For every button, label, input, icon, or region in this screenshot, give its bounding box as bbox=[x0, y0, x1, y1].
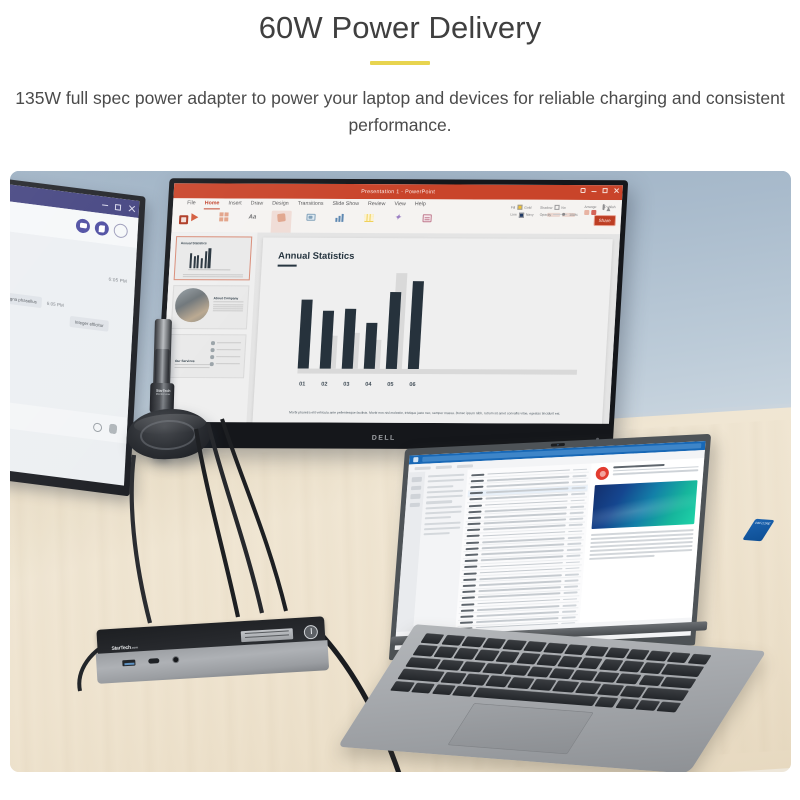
x-tick-label: 01 bbox=[297, 381, 308, 387]
maximize-icon[interactable] bbox=[115, 203, 121, 210]
slide-thumbnail-2[interactable]: About Company bbox=[171, 285, 250, 329]
chart-bar bbox=[408, 281, 424, 369]
window-controls bbox=[580, 188, 618, 193]
chat-bubble: Donec ac dui magna phasellus bbox=[10, 288, 42, 308]
bar-group-06 bbox=[408, 273, 425, 369]
annual-statistics-bar-chart[interactable]: 01 02 03 04 05 06 bbox=[296, 272, 589, 397]
mail-body-paragraph bbox=[589, 529, 694, 559]
avatar bbox=[595, 467, 609, 481]
shift-key[interactable] bbox=[398, 669, 445, 682]
mail-icon[interactable] bbox=[411, 477, 421, 482]
shadow-value: No bbox=[561, 205, 566, 209]
align-icon[interactable] bbox=[584, 210, 589, 215]
line-color-swatch[interactable] bbox=[519, 212, 524, 217]
powerpoint-workspace: Annual Statistics About Company bbox=[160, 232, 620, 424]
shadow-control[interactable]: Shadow No bbox=[540, 205, 579, 210]
chat-timestamp: 6:05 PM bbox=[10, 259, 127, 284]
secondary-monitor: 6:05 PM Donec ac dui magna phasellus 6:0… bbox=[10, 174, 146, 497]
x-tick-label: 03 bbox=[341, 382, 352, 388]
primary-monitor: Presentation 1 - PowerPoint Share File H… bbox=[154, 178, 628, 450]
chart-x-axis-labels: 01 02 03 04 05 06 bbox=[297, 381, 583, 388]
usb-c-port[interactable] bbox=[148, 658, 159, 664]
tab-slide-show[interactable]: Slide Show bbox=[332, 201, 359, 210]
group-icon[interactable] bbox=[591, 210, 596, 215]
x-tick-label: 02 bbox=[319, 382, 330, 388]
video-icon[interactable] bbox=[113, 223, 128, 239]
shadow-swatch[interactable] bbox=[554, 205, 559, 210]
fill-color-swatch[interactable] bbox=[517, 205, 522, 210]
minimize-icon[interactable] bbox=[591, 188, 596, 193]
line-control[interactable]: Line Navy bbox=[510, 212, 533, 217]
laptop-keyboard[interactable] bbox=[390, 633, 712, 712]
bar-group-03 bbox=[342, 273, 359, 369]
chat-bubble: Integer efficitur bbox=[70, 316, 109, 332]
tab-draw[interactable]: Draw bbox=[250, 201, 263, 210]
bar-group-01 bbox=[298, 273, 315, 369]
publish-button[interactable]: Publish bbox=[602, 205, 615, 209]
tab-key[interactable] bbox=[405, 657, 441, 669]
bar-group-05 bbox=[386, 273, 403, 369]
app-launcher-icon[interactable] bbox=[413, 457, 418, 462]
image-icon bbox=[300, 211, 321, 224]
trackpad[interactable] bbox=[447, 703, 593, 754]
maximize-icon[interactable] bbox=[602, 188, 607, 193]
title-underline-rule bbox=[370, 61, 430, 65]
gradient-banner-image bbox=[591, 480, 697, 529]
x-tick-label: 05 bbox=[385, 382, 396, 388]
bar-chart-icon bbox=[329, 211, 350, 224]
x-tick-label: 04 bbox=[363, 382, 374, 388]
thumbnail-bullet-list bbox=[209, 341, 241, 369]
backspace-key[interactable] bbox=[661, 664, 704, 677]
mail-header-block bbox=[595, 462, 699, 480]
laptop-base bbox=[338, 624, 767, 772]
opacity-label: Opacity bbox=[540, 212, 552, 216]
close-icon[interactable] bbox=[613, 188, 618, 193]
slide-title-rule bbox=[278, 265, 297, 267]
table-icon bbox=[358, 211, 379, 224]
line-value: Navy bbox=[526, 213, 534, 217]
close-icon[interactable] bbox=[128, 205, 135, 213]
mail-reading-pane[interactable] bbox=[579, 458, 704, 623]
arrange-icons bbox=[584, 210, 596, 215]
active-slide[interactable]: Annual Statistics bbox=[252, 238, 612, 424]
thumbnail-text-block: About Company bbox=[213, 296, 244, 311]
tab-help[interactable]: Help bbox=[414, 201, 425, 210]
slide-thumbnail-1[interactable]: Annual Statistics bbox=[174, 236, 253, 280]
powerpoint-ribbon: Share File Home Insert Draw Design Trans… bbox=[171, 198, 622, 234]
shadow-opacity-controls: Shadow No Opacity 100% bbox=[540, 205, 579, 217]
tab-file[interactable]: File bbox=[187, 200, 196, 209]
text-aa-icon: Aa bbox=[242, 211, 263, 224]
key[interactable] bbox=[687, 654, 712, 665]
page-header: 60W Power Delivery 135W full spec power … bbox=[0, 0, 800, 139]
x-tick-label: 06 bbox=[407, 382, 418, 388]
shape-icon bbox=[271, 211, 292, 224]
emoji-icon[interactable] bbox=[93, 422, 102, 432]
shift-key[interactable] bbox=[642, 688, 689, 701]
save-icon[interactable] bbox=[179, 215, 189, 224]
thumbnail-chart-axis bbox=[188, 270, 230, 271]
bar-group-02 bbox=[320, 273, 337, 369]
product-photo: 6:05 PM Donec ac dui magna phasellus 6:0… bbox=[10, 171, 791, 772]
enter-key[interactable] bbox=[660, 677, 696, 689]
shadow-label: Shadow bbox=[540, 205, 553, 209]
grid-icon bbox=[213, 210, 234, 223]
opacity-control[interactable]: Opacity 100% bbox=[540, 212, 578, 216]
mail-app-body bbox=[396, 458, 704, 632]
people-icon[interactable] bbox=[410, 494, 420, 499]
bullet-icon bbox=[210, 362, 214, 366]
webcam-icon bbox=[551, 443, 565, 447]
message-icon[interactable] bbox=[76, 218, 91, 234]
mail-subject-lines bbox=[613, 462, 699, 477]
startech-logo-arm: StarTech Monitor Arm bbox=[156, 389, 178, 397]
arrange-group[interactable]: Arrange bbox=[584, 205, 597, 215]
page-subtitle: 135W full spec power adapter to power yo… bbox=[0, 85, 800, 139]
restore-icon[interactable] bbox=[580, 188, 585, 193]
dock-brand-text: StarTech bbox=[111, 645, 131, 652]
dell-laptop: DELL int bbox=[362, 441, 782, 771]
chat-timestamp: 6:05 PM bbox=[47, 301, 64, 308]
calendar-icon[interactable] bbox=[410, 485, 420, 490]
powerpoint-window-title: Presentation 1 - PowerPoint bbox=[361, 189, 435, 195]
chart-bars bbox=[298, 273, 589, 370]
page-title: 60W Power Delivery bbox=[0, 8, 800, 48]
publish-icon bbox=[602, 204, 604, 210]
usb-a-port[interactable] bbox=[122, 659, 135, 666]
thumbnail-body-lines bbox=[183, 275, 243, 278]
slide-canvas[interactable]: Annual Statistics bbox=[246, 233, 620, 424]
slide-title: Annual Statistics bbox=[278, 250, 355, 261]
thumbnail-image bbox=[174, 288, 210, 322]
fill-value: Gold bbox=[524, 205, 531, 209]
files-icon[interactable] bbox=[409, 502, 419, 507]
fill-control[interactable]: Fill Gold bbox=[511, 205, 534, 210]
fill-line-controls: Fill Gold Line Navy bbox=[510, 205, 534, 218]
slide-body-text: Morbi pharetra elit vehicula ante pellen… bbox=[289, 411, 577, 417]
tab-home[interactable]: Home bbox=[204, 200, 219, 209]
chat-message-list[interactable]: 6:05 PM Donec ac dui magna phasellus 6:0… bbox=[10, 226, 137, 443]
attachment-icon[interactable] bbox=[109, 423, 117, 434]
bullet-icon bbox=[210, 348, 214, 352]
call-icon[interactable] bbox=[95, 221, 110, 237]
thumbnail-title: Annual Statistics bbox=[181, 241, 207, 245]
bullet-icon bbox=[211, 341, 215, 345]
bar-group-04 bbox=[364, 273, 381, 369]
intel-badge: intel CORE bbox=[742, 519, 774, 541]
mail-message-list[interactable] bbox=[455, 464, 591, 630]
minimize-icon[interactable] bbox=[102, 204, 108, 206]
thumbnail-title: Our Services bbox=[175, 359, 210, 363]
dock-brand-suffix: .com bbox=[131, 645, 138, 649]
chart-bar bbox=[298, 300, 313, 369]
tab-insert[interactable]: Insert bbox=[228, 200, 242, 209]
audio-jack-port[interactable] bbox=[172, 656, 179, 663]
bullet-icon bbox=[210, 355, 214, 359]
comment-icon bbox=[416, 211, 437, 224]
line-label: Line bbox=[510, 213, 517, 217]
ribbon-format-group: Fill Gold Line Navy bbox=[510, 205, 615, 218]
tab-review[interactable]: Review bbox=[368, 201, 386, 210]
fill-label: Fill bbox=[511, 205, 516, 209]
tab-view[interactable]: View bbox=[394, 201, 406, 210]
thumbnail-text-block: Our Services bbox=[175, 359, 211, 368]
primary-monitor-screen: Presentation 1 - PowerPoint Share File H… bbox=[160, 183, 623, 424]
opacity-slider[interactable] bbox=[553, 214, 567, 215]
slide-thumbnail-3[interactable]: Our Services bbox=[168, 334, 247, 378]
smart-art-icon: ✦ bbox=[387, 211, 408, 224]
thumbnail-title: About Company bbox=[214, 296, 244, 300]
chat-compose-bar[interactable] bbox=[10, 396, 128, 444]
opacity-value: 100% bbox=[569, 212, 578, 216]
arrow-key[interactable] bbox=[657, 701, 682, 712]
laptop-screen bbox=[395, 441, 706, 650]
tab-transitions[interactable]: Transitions bbox=[297, 201, 323, 210]
arrange-label: Arrange bbox=[584, 205, 596, 209]
thumbnail-chart bbox=[189, 246, 211, 268]
arm-sublabel-text: Monitor Arm bbox=[156, 393, 178, 397]
tab-design[interactable]: Design bbox=[272, 201, 289, 210]
secondary-monitor-screen: 6:05 PM Donec ac dui magna phasellus 6:0… bbox=[10, 179, 139, 485]
